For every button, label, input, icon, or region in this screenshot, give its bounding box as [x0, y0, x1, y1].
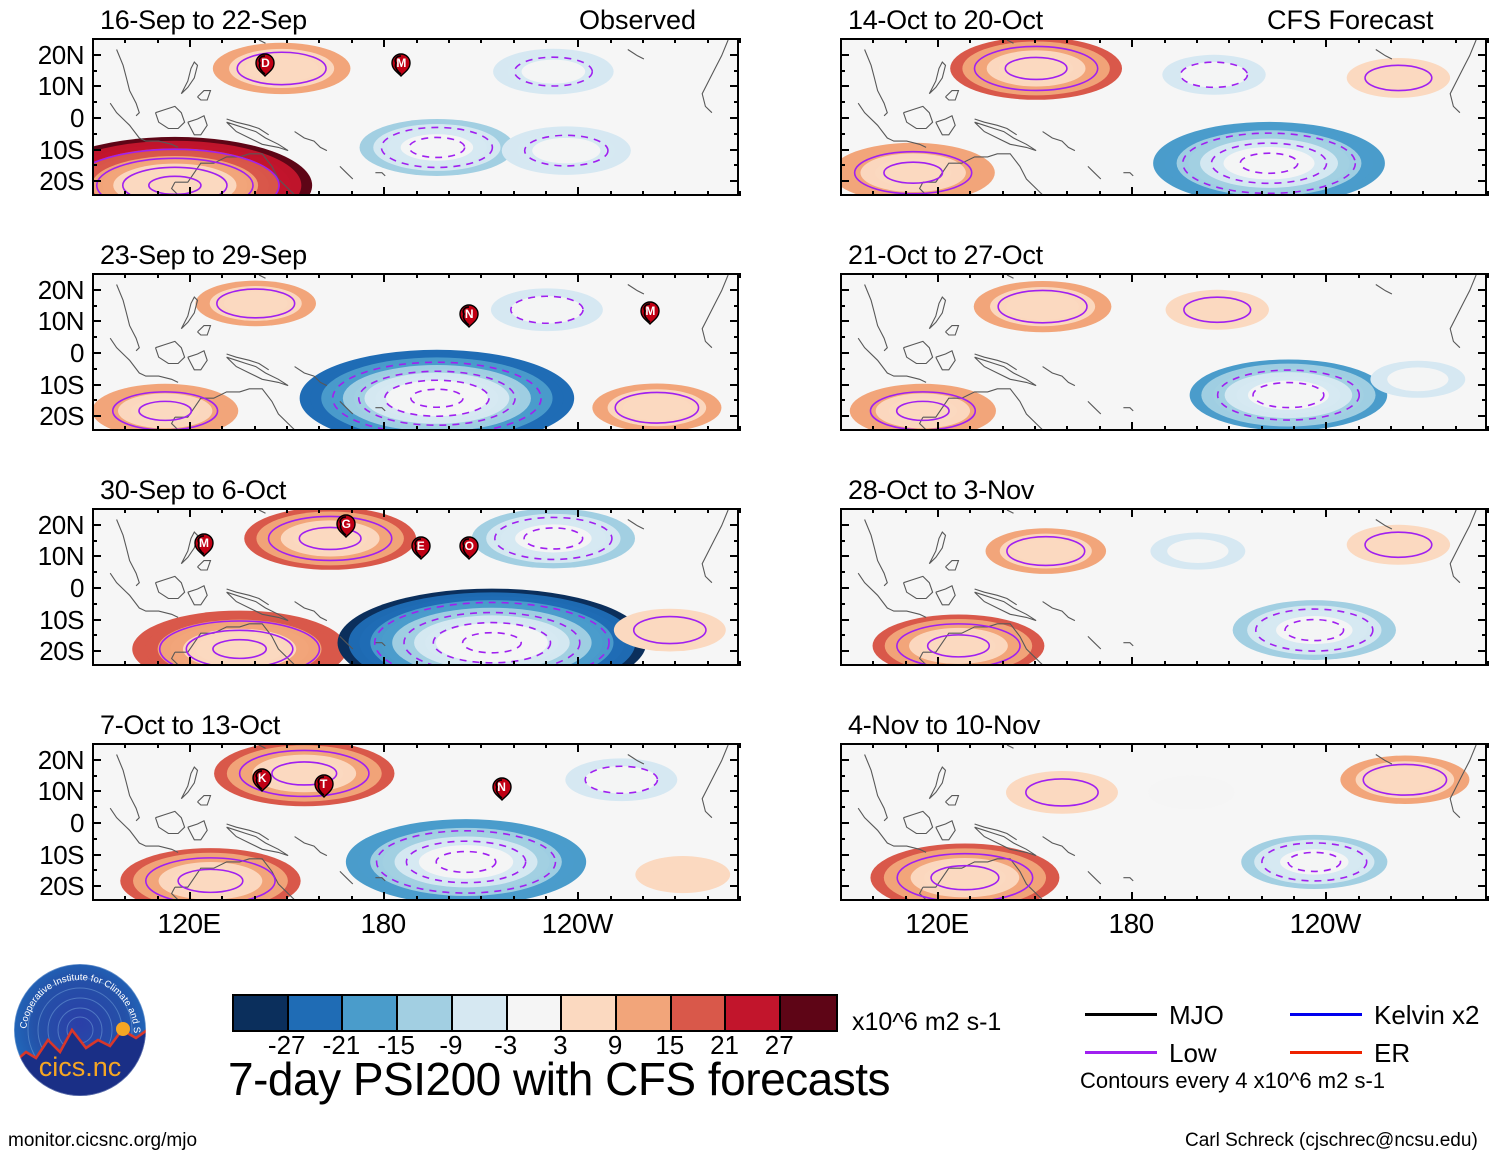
axis-tick: [1261, 426, 1263, 431]
axis-tick: [1131, 743, 1133, 752]
axis-tick: [1066, 661, 1068, 666]
axis-tick: [124, 661, 126, 666]
axis-tick: [545, 661, 547, 666]
axis-tick: [642, 426, 644, 431]
axis-tick: [610, 191, 612, 196]
map-panel[interactable]: [840, 508, 1487, 666]
axis-tick: [1482, 101, 1487, 103]
y-axis-label: 20N: [0, 745, 84, 776]
axis-tick: [92, 822, 101, 824]
axis-tick: [1325, 422, 1327, 431]
axis-tick: [286, 896, 288, 901]
axis-tick: [1478, 320, 1487, 322]
axis-tick: [383, 187, 385, 196]
storm-marker[interactable]: T: [313, 773, 335, 799]
footer-right[interactable]: Carl Schreck (cjschrec@ncsu.edu): [1185, 1130, 1478, 1152]
axis-tick: [1390, 896, 1392, 901]
axis-tick: [157, 661, 159, 666]
axis-tick: [1390, 661, 1392, 666]
axis-tick: [92, 399, 97, 401]
axis-tick: [318, 508, 320, 513]
axis-tick: [840, 191, 842, 196]
axis-tick: [1358, 273, 1360, 278]
axis-tick: [416, 273, 418, 278]
axis-tick: [1482, 399, 1487, 401]
axis-tick: [739, 508, 741, 513]
axis-tick: [545, 273, 547, 278]
axis-tick: [674, 191, 676, 196]
axis-tick: [739, 661, 741, 666]
axis-tick: [416, 191, 418, 196]
axis-tick: [642, 661, 644, 666]
axis-tick: [1099, 661, 1101, 666]
axis-tick: [92, 368, 97, 370]
axis-tick: [286, 191, 288, 196]
axis-tick: [189, 273, 191, 282]
axis-tick: [1478, 54, 1487, 56]
axis-tick: [730, 822, 739, 824]
axis-tick: [1164, 426, 1166, 431]
axis-tick: [1261, 38, 1263, 43]
axis-tick: [734, 540, 739, 542]
axis-tick: [730, 415, 739, 417]
axis-tick: [416, 38, 418, 43]
storm-marker[interactable]: D: [254, 52, 276, 78]
panel-title: 28-Oct to 3-Nov: [848, 475, 1034, 506]
axis-tick: [840, 54, 849, 56]
axis-tick: [872, 896, 874, 901]
cics-nc-logo: Cooperative Institute for Climate and Sa…: [10, 960, 150, 1100]
axis-tick: [1478, 149, 1487, 151]
colorbar-segment: [617, 996, 672, 1030]
axis-tick: [1164, 273, 1166, 278]
axis-tick: [840, 759, 849, 761]
axis-tick: [1034, 191, 1036, 196]
axis-tick: [872, 743, 874, 748]
axis-tick: [734, 336, 739, 338]
footer-left[interactable]: monitor.cicsnc.org/mjo: [8, 1130, 197, 1152]
axis-tick: [1066, 743, 1068, 748]
axis-tick: [416, 426, 418, 431]
axis-tick: [1196, 508, 1198, 513]
axis-tick: [1487, 661, 1489, 666]
axis-tick: [92, 305, 97, 307]
axis-tick: [1482, 869, 1487, 871]
axis-tick: [92, 661, 94, 666]
axis-tick: [1358, 743, 1360, 748]
panel-title: 14-Oct to 20-Oct: [848, 5, 1043, 36]
axis-tick: [577, 422, 579, 431]
axis-tick: [730, 759, 739, 761]
axis-tick: [92, 70, 97, 72]
axis-tick: [1002, 661, 1004, 666]
axis-tick: [969, 743, 971, 748]
axis-tick: [1478, 555, 1487, 557]
y-axis-label: 10S: [0, 370, 84, 401]
axis-tick: [905, 191, 907, 196]
axis-tick: [730, 650, 739, 652]
axis-tick: [189, 657, 191, 666]
axis-tick: [1131, 38, 1133, 47]
axis-tick: [92, 54, 101, 56]
axis-tick: [189, 422, 191, 431]
axis-tick: [840, 822, 849, 824]
axis-tick: [734, 164, 739, 166]
axis-tick: [840, 38, 842, 43]
axis-tick: [840, 117, 849, 119]
axis-tick: [937, 187, 939, 196]
axis-tick: [1196, 38, 1198, 43]
axis-tick: [318, 661, 320, 666]
axis-tick: [1422, 743, 1424, 748]
axis-tick: [1099, 38, 1101, 43]
axis-tick: [674, 508, 676, 513]
axis-tick: [577, 38, 579, 47]
axis-tick: [448, 661, 450, 666]
axis-tick: [1482, 133, 1487, 135]
axis-tick: [1228, 896, 1230, 901]
axis-tick: [1293, 743, 1295, 748]
axis-tick: [1293, 191, 1295, 196]
axis-tick: [1131, 508, 1133, 517]
axis-tick: [840, 508, 842, 513]
axis-tick: [1455, 191, 1457, 196]
axis-tick: [610, 743, 612, 748]
axis-tick: [707, 896, 709, 901]
y-axis-label: 10S: [0, 840, 84, 871]
axis-tick: [1455, 273, 1457, 278]
axis-tick: [1478, 650, 1487, 652]
axis-tick: [383, 273, 385, 282]
storm-marker[interactable]: O: [458, 535, 480, 561]
axis-tick: [734, 806, 739, 808]
axis-tick: [480, 426, 482, 431]
axis-tick: [1228, 273, 1230, 278]
axis-tick: [1478, 759, 1487, 761]
axis-tick: [545, 38, 547, 43]
axis-tick: [1196, 426, 1198, 431]
axis-tick: [734, 368, 739, 370]
axis-tick: [383, 743, 385, 752]
axis-tick: [840, 273, 842, 278]
axis-tick: [1478, 854, 1487, 856]
axis-tick: [840, 603, 845, 605]
legend-label-mjo: MJO: [1169, 1000, 1224, 1031]
axis-tick: [730, 854, 739, 856]
axis-tick: [1422, 896, 1424, 901]
axis-tick: [840, 70, 845, 72]
axis-tick: [254, 743, 256, 748]
axis-tick: [1455, 743, 1457, 748]
axis-tick: [840, 180, 849, 182]
axis-tick: [480, 191, 482, 196]
axis-tick: [448, 38, 450, 43]
axis-tick: [840, 164, 845, 166]
axis-tick: [1164, 191, 1166, 196]
axis-tick: [1196, 273, 1198, 278]
map-panel[interactable]: DM: [92, 38, 739, 196]
axis-tick: [707, 191, 709, 196]
axis-tick: [969, 508, 971, 513]
axis-tick: [1228, 743, 1230, 748]
axis-tick: [92, 885, 101, 887]
axis-tick: [1358, 38, 1360, 43]
axis-tick: [124, 191, 126, 196]
axis-tick: [1164, 896, 1166, 901]
axis-tick: [318, 273, 320, 278]
axis-tick: [157, 426, 159, 431]
axis-tick: [286, 38, 288, 43]
y-axis-label: 20S: [0, 401, 84, 432]
storm-marker[interactable]: N: [458, 303, 480, 329]
axis-tick: [734, 133, 739, 135]
y-axis-label: 20S: [0, 871, 84, 902]
axis-tick: [840, 85, 849, 87]
axis-tick: [674, 38, 676, 43]
axis-tick: [905, 38, 907, 43]
storm-marker[interactable]: K: [251, 767, 273, 793]
axis-tick: [674, 426, 676, 431]
axis-tick: [1034, 508, 1036, 513]
axis-tick: [937, 422, 939, 431]
y-axis-label: 0: [0, 808, 84, 839]
axis-tick: [448, 426, 450, 431]
axis-tick: [189, 743, 191, 752]
axis-tick: [1099, 743, 1101, 748]
axis-tick: [1261, 661, 1263, 666]
axis-tick: [1261, 896, 1263, 901]
axis-tick: [840, 743, 842, 748]
axis-tick: [730, 885, 739, 887]
axis-tick: [1358, 191, 1360, 196]
axis-tick: [92, 320, 101, 322]
map-panel[interactable]: NM: [92, 273, 739, 431]
axis-tick: [1478, 415, 1487, 417]
axis-tick: [1131, 422, 1133, 431]
axis-tick: [905, 508, 907, 513]
y-axis-label: 0: [0, 103, 84, 134]
axis-tick: [840, 415, 849, 417]
colorbar-segment: [726, 996, 781, 1030]
axis-tick: [840, 368, 845, 370]
axis-tick: [1164, 661, 1166, 666]
axis-tick: [1478, 384, 1487, 386]
axis-tick: [221, 896, 223, 901]
axis-tick: [1228, 38, 1230, 43]
map-panel[interactable]: [840, 273, 1487, 431]
axis-tick: [840, 133, 845, 135]
axis-tick: [1034, 38, 1036, 43]
axis-tick: [157, 38, 159, 43]
map-panel[interactable]: [840, 743, 1487, 901]
legend-line-mjo: [1085, 1013, 1157, 1016]
axis-tick: [730, 587, 739, 589]
axis-tick: [840, 885, 849, 887]
axis-tick: [1390, 38, 1392, 43]
colorbar-units-label: x10^6 m2 s-1: [852, 1008, 1001, 1037]
axis-tick: [1478, 117, 1487, 119]
axis-tick: [254, 191, 256, 196]
axis-tick: [730, 85, 739, 87]
axis-tick: [734, 571, 739, 573]
axis-tick: [383, 422, 385, 431]
panel-title: 16-Sep to 22-Sep: [100, 5, 307, 36]
axis-tick: [1002, 508, 1004, 513]
axis-tick: [969, 426, 971, 431]
contour-note: Contours every 4 x10^6 m2 s-1: [1080, 1068, 1385, 1094]
colorbar: [232, 994, 838, 1032]
axis-tick: [1482, 368, 1487, 370]
axis-tick: [1293, 661, 1295, 666]
axis-tick: [92, 38, 94, 43]
axis-tick: [840, 289, 849, 291]
axis-tick: [1358, 661, 1360, 666]
axis-tick: [1455, 896, 1457, 901]
colorbar-segment: [781, 996, 836, 1030]
axis-tick: [1390, 508, 1392, 513]
axis-tick: [1196, 191, 1198, 196]
axis-tick: [577, 273, 579, 282]
axis-tick: [937, 38, 939, 47]
y-axis-label: 10N: [0, 776, 84, 807]
axis-tick: [383, 892, 385, 901]
axis-tick: [254, 38, 256, 43]
axis-tick: [1002, 38, 1004, 43]
axis-tick: [351, 508, 353, 513]
axis-tick: [1482, 540, 1487, 542]
axis-tick: [1034, 273, 1036, 278]
legend-label-low: Low: [1169, 1038, 1217, 1069]
axis-tick: [545, 426, 547, 431]
axis-tick: [937, 273, 939, 282]
axis-tick: [1293, 38, 1295, 43]
axis-tick: [1422, 426, 1424, 431]
axis-tick: [351, 273, 353, 278]
axis-tick: [840, 399, 845, 401]
axis-tick: [1196, 661, 1198, 666]
axis-tick: [840, 661, 842, 666]
axis-tick: [92, 555, 101, 557]
storm-marker[interactable]: M: [193, 532, 215, 558]
y-axis-label: 20N: [0, 275, 84, 306]
axis-tick: [92, 508, 94, 513]
legend-line-low: [1085, 1051, 1157, 1054]
axis-tick: [840, 854, 849, 856]
axis-tick: [1487, 191, 1489, 196]
axis-tick: [254, 508, 256, 513]
axis-tick: [92, 838, 97, 840]
axis-tick: [1261, 508, 1263, 513]
axis-tick: [1422, 661, 1424, 666]
axis-tick: [92, 587, 101, 589]
axis-tick: [872, 38, 874, 43]
storm-marker[interactable]: G: [335, 513, 357, 539]
colorbar-segment: [398, 996, 453, 1030]
axis-tick: [1034, 896, 1036, 901]
axis-tick: [734, 603, 739, 605]
axis-tick: [739, 743, 741, 748]
map-panel[interactable]: MGEO: [92, 508, 739, 666]
axis-tick: [1455, 508, 1457, 513]
axis-tick: [254, 896, 256, 901]
axis-tick: [730, 289, 739, 291]
legend-label-kelvin-x2: Kelvin x2: [1374, 1000, 1480, 1031]
axis-tick: [1293, 896, 1295, 901]
axis-tick: [351, 896, 353, 901]
colorbar-segment: [562, 996, 617, 1030]
axis-tick: [221, 426, 223, 431]
y-axis-label: 0: [0, 338, 84, 369]
axis-tick: [92, 896, 94, 901]
map-panel[interactable]: [840, 38, 1487, 196]
axis-tick: [937, 743, 939, 752]
axis-tick: [707, 38, 709, 43]
axis-tick: [937, 892, 939, 901]
axis-tick: [577, 187, 579, 196]
y-axis-label: 10N: [0, 71, 84, 102]
axis-tick: [1487, 38, 1489, 43]
axis-tick: [1390, 191, 1392, 196]
axis-tick: [1034, 661, 1036, 666]
axis-tick: [642, 273, 644, 278]
axis-tick: [1066, 38, 1068, 43]
axis-tick: [92, 571, 97, 573]
axis-tick: [189, 892, 191, 901]
axis-tick: [448, 743, 450, 748]
axis-tick: [1478, 289, 1487, 291]
axis-tick: [577, 657, 579, 666]
axis-tick: [734, 838, 739, 840]
axis-tick: [1455, 661, 1457, 666]
axis-tick: [383, 508, 385, 517]
storm-marker[interactable]: E: [410, 535, 432, 561]
axis-tick: [1164, 38, 1166, 43]
map-panel[interactable]: KTN: [92, 743, 739, 901]
axis-tick: [157, 743, 159, 748]
axis-tick: [872, 426, 874, 431]
axis-tick: [1487, 508, 1489, 513]
axis-tick: [513, 273, 515, 278]
axis-tick: [1390, 426, 1392, 431]
axis-tick: [730, 790, 739, 792]
storm-marker[interactable]: N: [491, 776, 513, 802]
axis-tick: [577, 892, 579, 901]
axis-tick: [318, 191, 320, 196]
axis-tick: [1131, 892, 1133, 901]
axis-tick: [513, 743, 515, 748]
y-axis-label: 20S: [0, 636, 84, 667]
axis-tick: [1390, 273, 1392, 278]
axis-tick: [730, 320, 739, 322]
axis-tick: [157, 273, 159, 278]
axis-tick: [730, 180, 739, 182]
y-axis-label: 0: [0, 573, 84, 604]
axis-tick: [1482, 775, 1487, 777]
axis-tick: [92, 164, 97, 166]
axis-tick: [642, 508, 644, 513]
axis-tick: [221, 38, 223, 43]
axis-tick: [1131, 657, 1133, 666]
axis-tick: [1478, 352, 1487, 354]
axis-tick: [1034, 743, 1036, 748]
axis-tick: [734, 70, 739, 72]
storm-marker[interactable]: M: [390, 52, 412, 78]
storm-marker[interactable]: M: [639, 300, 661, 326]
axis-tick: [840, 650, 849, 652]
axis-tick: [674, 896, 676, 901]
axis-tick: [383, 38, 385, 47]
axis-tick: [840, 540, 845, 542]
